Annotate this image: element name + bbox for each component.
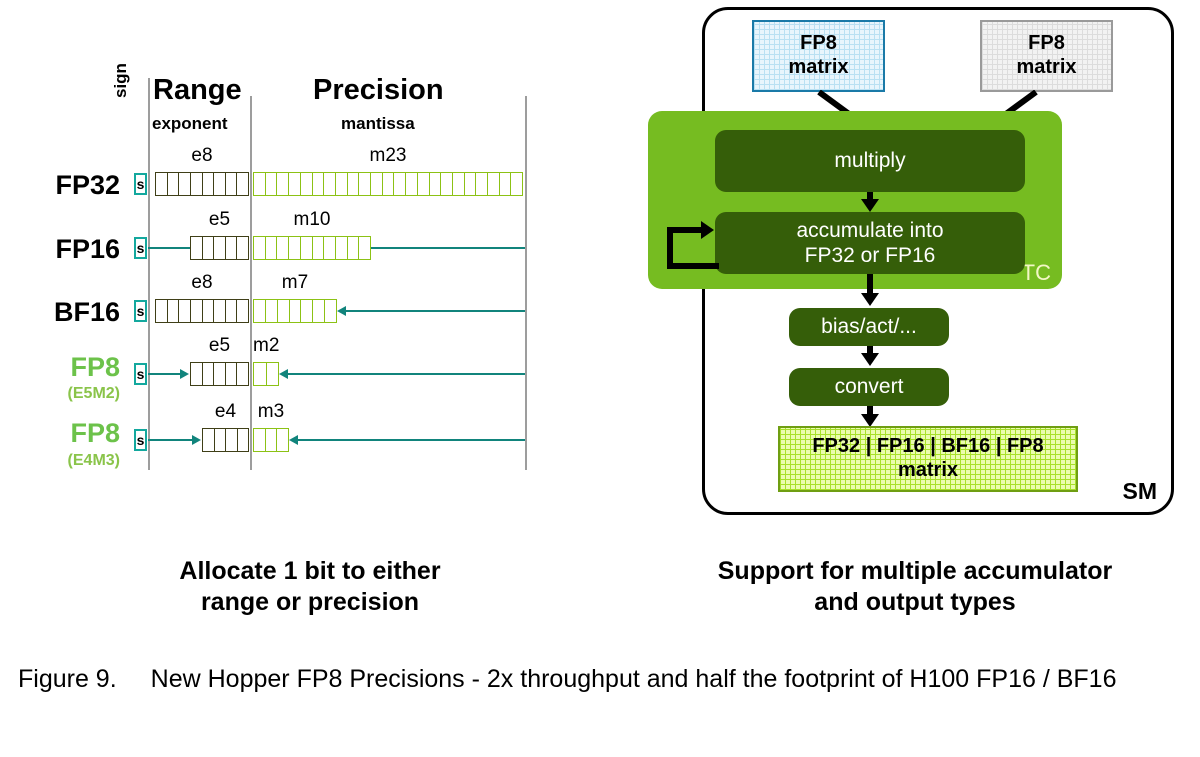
bit-cell (301, 173, 313, 195)
bit-cell (476, 173, 488, 195)
bit-cell (191, 173, 203, 195)
bit-cell (179, 173, 191, 195)
accumulate-box: accumulate into FP32 or FP16 (715, 212, 1025, 274)
convert-box: convert (789, 368, 949, 406)
tc-label: TC (1022, 260, 1051, 286)
output-matrix-line1: FP32 | FP16 | BF16 | FP8 (812, 435, 1043, 459)
input-matrix-a-line1: FP8 (800, 32, 837, 56)
bit-cell (278, 300, 290, 322)
exponent-bits-bf16 (155, 299, 249, 323)
bit-cell (191, 363, 203, 385)
exp-tag-fp16: e5 (190, 209, 249, 231)
bit-cell (290, 300, 302, 322)
bit-cell (313, 173, 325, 195)
mantissa-bits-bf16 (253, 299, 337, 323)
connector-fp16-left (148, 247, 192, 249)
man-tag-fp8-e4m3: m3 (253, 401, 289, 423)
row-label-fp8-e5m2: FP8 (20, 352, 120, 383)
bit-cell (325, 300, 336, 322)
row-label-fp32: FP32 (20, 170, 120, 201)
bit-cell (203, 237, 215, 259)
connector-fp16-right (371, 247, 525, 249)
row-label-bf16: BF16 (20, 297, 120, 328)
bit-cell (254, 173, 266, 195)
bit-cell (226, 300, 238, 322)
figure-number: Figure 9. (18, 665, 117, 693)
bit-cell (254, 300, 266, 322)
bit-cell (179, 300, 191, 322)
bias-act-box: bias/act/... (789, 308, 949, 346)
arrow-accumulate-to-bias-head (861, 293, 879, 306)
bit-cell (511, 173, 522, 195)
bit-cell (301, 300, 313, 322)
bit-cell (237, 300, 248, 322)
bit-cell (266, 237, 278, 259)
connector-bf16-right (346, 310, 525, 312)
bit-cell (156, 300, 168, 322)
bit-cell (203, 300, 215, 322)
bit-cell (348, 173, 360, 195)
man-tag-fp8-e5m2: m2 (253, 335, 279, 357)
bit-cell (277, 429, 288, 451)
mantissa-bits-fp8-e4m3 (253, 428, 289, 452)
feedback-loop-head (701, 221, 714, 239)
bit-cell (289, 173, 301, 195)
bit-cell (406, 173, 418, 195)
sign-bit-box-fp8-e5m2: s (134, 363, 147, 385)
divider-sign-range (148, 78, 150, 470)
header-sign: sign (111, 63, 131, 98)
header-range: Range (153, 74, 242, 107)
bit-cell (277, 173, 289, 195)
row-sublabel-fp8-e4m3: (E4M3) (20, 452, 120, 470)
bit-cell (254, 429, 266, 451)
multiply-box: multiply (715, 130, 1025, 192)
multiply-label: multiply (834, 148, 905, 173)
bit-cell (226, 429, 238, 451)
bit-cell (359, 237, 370, 259)
feedback-loop-bottom (667, 263, 719, 269)
bit-cell (500, 173, 512, 195)
bit-cell (226, 173, 238, 195)
mantissa-bits-fp16 (253, 236, 371, 260)
bit-cell (226, 237, 238, 259)
arrow-bias-to-convert-head (861, 353, 879, 366)
bit-cell (266, 173, 278, 195)
arrow-fp8-e5m2-to-mantissa (279, 369, 288, 379)
bit-cell (488, 173, 500, 195)
feedback-loop-top (667, 227, 703, 233)
bit-cell (277, 237, 289, 259)
right-caption: Support for multiple accumulator and out… (645, 556, 1185, 617)
bit-cell (324, 173, 336, 195)
exponent-bits-fp16 (190, 236, 249, 260)
bit-cell (430, 173, 442, 195)
output-matrix: FP32 | FP16 | BF16 | FP8 matrix (778, 426, 1078, 492)
sign-bit-box-fp8-e4m3: s (134, 429, 147, 451)
mantissa-bits-fp32 (253, 172, 523, 196)
tensor-core-dataflow-diagram: SM FP8 matrix FP8 matrix TC multiply acc… (620, 0, 1200, 540)
bit-cell (383, 173, 395, 195)
bit-cell (215, 429, 227, 451)
bit-cell (453, 173, 465, 195)
sign-bit-box-fp16: s (134, 237, 147, 259)
bit-cell (359, 173, 371, 195)
sign-bit-box-bf16: s (134, 300, 147, 322)
divider-range-precision (250, 96, 252, 470)
output-matrix-line2: matrix (898, 459, 958, 483)
bit-cell (313, 300, 325, 322)
bit-cell (238, 429, 249, 451)
bit-cell (324, 237, 336, 259)
bit-cell (191, 300, 203, 322)
man-tag-fp32: m23 (253, 145, 523, 167)
input-matrix-b-line2: matrix (1016, 56, 1076, 80)
arrow-multiply-to-accumulate-head (861, 199, 879, 212)
bit-cell (336, 237, 348, 259)
exp-tag-fp8-e4m3: e4 (202, 401, 249, 423)
figure-caption-text: New Hopper FP8 Precisions - 2x throughpu… (151, 665, 1117, 693)
bit-cell (214, 237, 226, 259)
bit-cell (254, 237, 266, 259)
bit-cell (191, 237, 203, 259)
input-matrix-a-line2: matrix (788, 56, 848, 80)
bit-cell (214, 300, 226, 322)
fp-formats-diagram: sign Range exponent Precision mantissa F… (0, 0, 620, 540)
accumulate-label-line2: FP32 or FP16 (805, 243, 936, 268)
input-matrix-b-line1: FP8 (1028, 32, 1065, 56)
right-caption-line2: and output types (645, 587, 1185, 618)
row-label-fp16: FP16 (20, 234, 120, 265)
bias-act-label: bias/act/... (821, 314, 917, 339)
mantissa-bits-fp8-e5m2 (253, 362, 279, 386)
bit-cell (237, 363, 248, 385)
bit-cell (289, 237, 301, 259)
bit-cell (214, 173, 226, 195)
connector-fp8-e4m3-left (148, 439, 193, 441)
bit-cell (371, 173, 383, 195)
bit-cell (266, 429, 278, 451)
man-tag-fp16: m10 (253, 209, 371, 231)
bit-cell (226, 363, 238, 385)
bit-cell (214, 363, 226, 385)
left-caption-line2: range or precision (60, 587, 560, 618)
exp-tag-bf16: e8 (155, 272, 249, 294)
input-matrix-a: FP8 matrix (752, 20, 885, 92)
sign-bit-box-fp32: s (134, 173, 147, 195)
header-precision: Precision (313, 74, 444, 107)
accumulate-label-line1: accumulate into (796, 218, 943, 243)
bit-cell (156, 173, 168, 195)
bit-cell (237, 237, 248, 259)
sm-label: SM (1123, 478, 1158, 505)
man-tag-bf16: m7 (253, 272, 337, 294)
bit-cell (336, 173, 348, 195)
exponent-bits-fp32 (155, 172, 249, 196)
connector-fp8-e4m3-right (298, 439, 525, 441)
bit-cell (301, 237, 313, 259)
arrow-fp8-e4m3-to-mantissa (289, 435, 298, 445)
feedback-loop-left (667, 227, 673, 269)
bit-cell (313, 237, 325, 259)
bit-cell (441, 173, 453, 195)
bit-cell (237, 173, 248, 195)
connector-fp8-e5m2-left (148, 373, 181, 375)
bit-cell (394, 173, 406, 195)
bit-cell (168, 300, 180, 322)
exponent-bits-fp8-e4m3 (202, 428, 249, 452)
bit-cell (254, 363, 267, 385)
bit-cell (418, 173, 430, 195)
right-caption-line1: Support for multiple accumulator (645, 556, 1185, 587)
convert-label: convert (835, 374, 904, 399)
connector-fp8-e5m2-right (288, 373, 525, 375)
exponent-bits-fp8-e5m2 (190, 362, 249, 386)
bit-cell (203, 429, 215, 451)
row-label-fp8-e4m3: FP8 (20, 418, 120, 449)
row-sublabel-fp8-e5m2: (E5M2) (20, 385, 120, 403)
bit-cell (168, 173, 180, 195)
bit-cell (266, 300, 278, 322)
arrow-fp8-e5m2-to-exponent (180, 369, 189, 379)
header-mantissa: mantissa (341, 114, 415, 134)
bit-cell (203, 173, 215, 195)
exp-tag-fp8-e5m2: e5 (190, 335, 249, 357)
figure-caption: Figure 9.New Hopper FP8 Precisions - 2x … (18, 663, 1183, 696)
left-caption: Allocate 1 bit to either range or precis… (60, 556, 560, 617)
divider-right-edge (525, 96, 527, 470)
left-caption-line1: Allocate 1 bit to either (60, 556, 560, 587)
bit-cell (203, 363, 215, 385)
bit-cell (465, 173, 477, 195)
bit-cell (267, 363, 279, 385)
exp-tag-fp32: e8 (155, 145, 249, 167)
arrow-fp8-e4m3-to-exponent (192, 435, 201, 445)
header-exponent: exponent (152, 114, 228, 134)
bit-cell (348, 237, 360, 259)
input-matrix-b: FP8 matrix (980, 20, 1113, 92)
arrow-bf16-to-mantissa (337, 306, 346, 316)
